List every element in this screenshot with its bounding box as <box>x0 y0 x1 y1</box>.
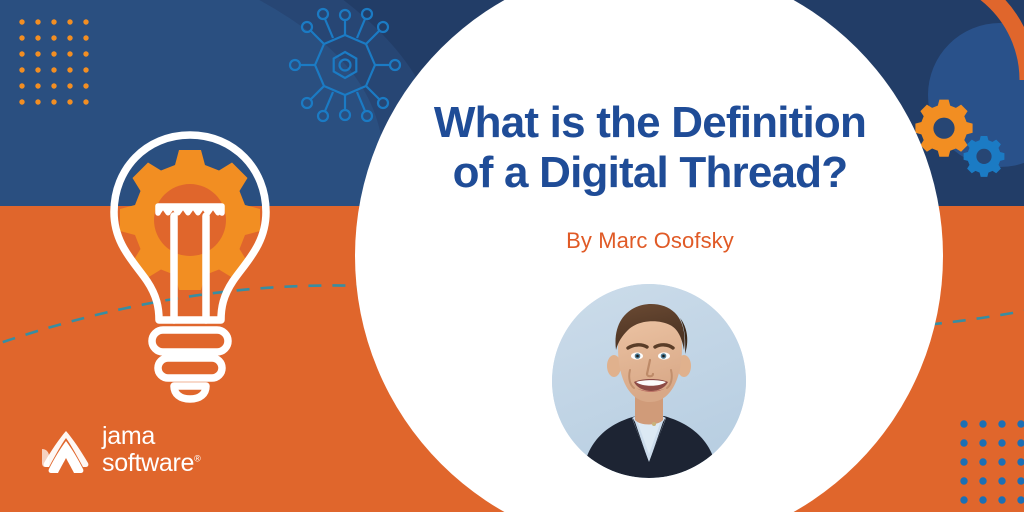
logo-wordmark: jama software® <box>102 423 200 476</box>
logo-word-software: software® <box>102 450 200 477</box>
brand-logo[interactable]: jama software® <box>40 425 230 487</box>
byline: By Marc Osofsky <box>355 228 945 254</box>
bottom-right-dot-grid <box>960 420 1024 503</box>
author-portrait <box>552 284 746 478</box>
registered-mark: ® <box>194 453 200 463</box>
jama-mark-icon <box>40 429 92 479</box>
gear-icon-blue <box>964 136 1005 177</box>
title-line-1: What is the Definition <box>434 98 866 147</box>
title-line-2: of a Digital Thread? <box>355 148 945 198</box>
logo-word-jama: jama <box>102 422 155 450</box>
page-title: What is the Definition of a Digital Thre… <box>355 98 945 198</box>
avatar <box>552 284 746 478</box>
social-card: What is the Definition of a Digital Thre… <box>0 0 1024 512</box>
